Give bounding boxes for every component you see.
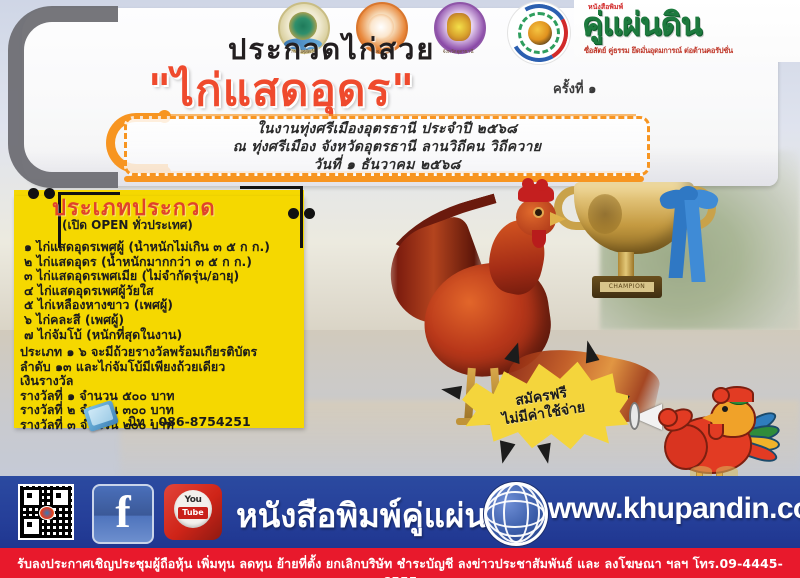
event-line-1: ในงานทุ่งศรีเมืองอุตรธานี ประจำปี ๒๕๖๘ <box>127 119 647 138</box>
rooster-wattle <box>532 230 546 248</box>
rooster-beak <box>550 212 566 226</box>
red-advert-strip: รับลงประกาศเชิญประชุมผู้ถือหุ้น เพิ่มทุน… <box>0 548 800 578</box>
youtube-tube-text: Tube <box>178 507 208 519</box>
event-details-band: ในงานทุ่งศรีเมืองอุตรธานี ประจำปี ๒๕๖๘ ณ… <box>124 116 650 176</box>
list-item: ๒ ไก่แสดอุดร (น้ำหนักมากกว่า ๓ ๕ ก ก.) <box>24 255 292 270</box>
chicken-sport-logo-icon <box>508 2 570 64</box>
trophy-blue-ribbon <box>660 186 718 282</box>
categories-corner-bracket-right-horizontal <box>240 186 303 189</box>
mascot-comb <box>720 386 754 402</box>
note-line: ประเภท ๑ ๖ จะมีถ้วยรางวัลพร้อมเกียรติบัต… <box>20 345 292 360</box>
mascot-wattle <box>708 424 724 440</box>
list-item: ๓ ไก่แสดอุดรเพศเมีย (ไม่จำกัดรุ่น/อายุ) <box>24 269 292 284</box>
list-item: ๖ ไก่คละสี (เพศผู้) <box>24 313 292 328</box>
poster-title-edition: ครั้งที่ ๑ <box>553 78 596 99</box>
contact-phone: นิท : 086-8754251 <box>128 412 251 432</box>
poster-root: กรมปศุสัตว์ อบจ.อุดร จังหวัดอุดรธานี หนั… <box>0 0 800 578</box>
list-item: ๕ ไก่เหลืองหางขาว (เพศผู้) <box>24 298 292 313</box>
decorative-wings <box>690 466 750 480</box>
qr-code-icon[interactable] <box>18 484 74 540</box>
rooster-eye <box>535 209 542 216</box>
event-line-2: ณ ทุ่งศรีเมือง จังหวัดอุตรธานี ลานวิถีคน… <box>127 138 647 156</box>
list-item: ๑ ไก่แสดอุดรเพศผู้ (น้ำหนักไม่เกิน ๓ ๕ ก… <box>24 240 292 255</box>
megaphone-icon <box>632 400 672 428</box>
note-line: ลำดับ ๑๓ และไก่จัมโบ้มีเพียงถ้วยเดียว <box>20 360 292 375</box>
categories-corner-bracket-right-vertical <box>300 186 303 248</box>
masthead-title: คู่แผ่นดิน <box>582 8 701 40</box>
categories-subheading: (เปิด OPEN ทั่วประเทศ) <box>62 216 193 235</box>
list-item: ๔ ไก่แสดอุดรเพศผู้วัยใส <box>24 284 292 299</box>
mascot-beak <box>702 412 716 424</box>
newspaper-masthead: หนังสือพิมพ์ คู่แผ่นดิน ซื่อสัตย์ คู่ธรร… <box>574 0 800 62</box>
youtube-you-text: You <box>177 495 209 505</box>
categories-list: ๑ ไก่แสดอุดรเพศผู้ (น้ำหนักไม่เกิน ๓ ๕ ก… <box>24 240 292 342</box>
rooster-comb <box>518 184 554 202</box>
youtube-icon[interactable]: You Tube <box>164 484 222 540</box>
globe-icon <box>484 482 548 546</box>
header-bracket-decoration <box>8 6 118 188</box>
list-item: ๗ ไก่จัมโบ้ (หนักที่สุดในงาน) <box>24 328 292 343</box>
free-registration-badge: สมัครฟรี ไม่มีค่าใช้จ่าย <box>455 358 630 453</box>
emblem-udonthani-province-icon <box>434 2 486 54</box>
mascot-eye <box>722 406 728 412</box>
event-line-3: วันที่ ๑ ธันวาคม ๒๕๖๘ <box>127 156 647 174</box>
facebook-glyph: f <box>94 488 152 536</box>
website-url[interactable]: www.khupandin.com <box>548 492 800 526</box>
masthead-slogan: ซื่อสัตย์ คู่ธรรม ยึดมั่นอุดมการณ์ ต่อต้… <box>584 45 733 57</box>
note-line: เงินรางวัล <box>20 374 292 389</box>
red-strip-text: รับลงประกาศเชิญประชุมผู้ถือหุ้น เพิ่มทุน… <box>0 554 800 578</box>
facebook-icon[interactable]: f <box>92 484 154 544</box>
